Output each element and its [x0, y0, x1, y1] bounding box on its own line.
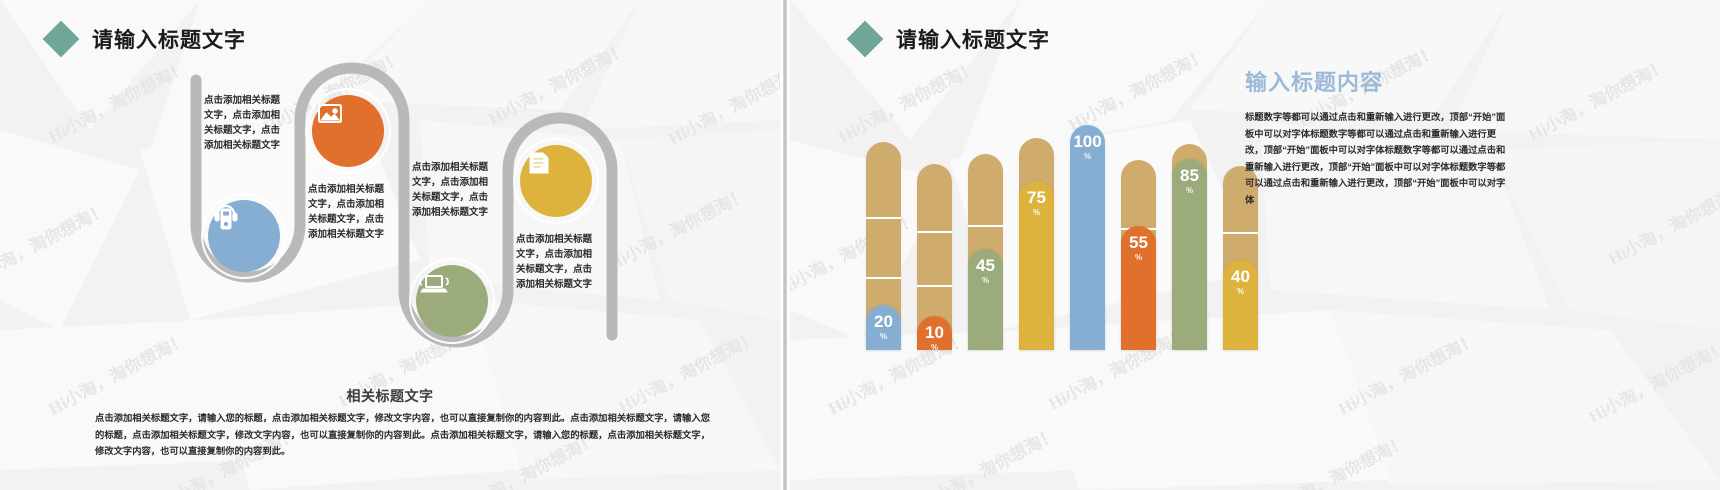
bar-value-label: 55: [1129, 233, 1148, 252]
bar-fill[interactable]: 40%: [1223, 260, 1258, 350]
slide-right: Hi小淘，淘你想淘！ Hi小淘，淘你想淘！ Hi小淘，淘你想淘！ Hi小淘，淘你…: [790, 0, 1720, 490]
diamond-marker-icon: [43, 21, 80, 58]
node-laptop[interactable]: [416, 265, 488, 337]
music-player-glyph: [208, 200, 244, 236]
bar-value-label: 75: [1027, 188, 1046, 207]
panel-body: 标题数字等都可以通过点击和重新输入进行更改，顶部“开始”面板中可以对字体标题数字…: [1245, 109, 1510, 208]
slide-left-header: 请输入标题文字: [48, 24, 246, 54]
bar-gridline: [968, 225, 1003, 227]
bar-chart: 20%10%45%75%100%55%85%40%: [866, 85, 1266, 350]
page-title: 请输入标题文字: [92, 24, 246, 54]
bar-fill[interactable]: 20%: [866, 305, 901, 350]
panel-title: 输入标题内容: [1245, 65, 1510, 97]
process-diagram: 点击添加相关标题文字，点击添加相关标题文字，点击添加相关标题文字 点击添加相关标…: [0, 60, 780, 370]
presentation-canvas: Hi小淘，淘你想淘！ Hi小淘，淘你想淘！ Hi小淘，淘你想淘！ Hi小淘，淘你…: [0, 0, 1720, 490]
node-3-text: 点击添加相关标题文字，点击添加相关标题文字，点击添加相关标题文字: [412, 160, 494, 220]
laptop-glyph: [416, 265, 452, 301]
bar-fill[interactable]: 45%: [968, 249, 1003, 350]
node-music-player[interactable]: [208, 200, 280, 272]
bar-value-label: 20: [874, 312, 893, 331]
node-document[interactable]: [520, 145, 592, 217]
right-text-panel: 输入标题内容 标题数字等都可以通过点击和重新输入进行更改，顶部“开始”面板中可以…: [1245, 65, 1510, 208]
node-image[interactable]: [312, 95, 384, 167]
slide-left: Hi小淘，淘你想淘！ Hi小淘，淘你想淘！ Hi小淘，淘你想淘！ Hi小淘，淘你…: [0, 0, 780, 490]
bar-unit-label: %: [880, 332, 887, 341]
bar-value-label: 45: [976, 256, 995, 275]
slide-right-header: 请输入标题文字: [852, 24, 1050, 54]
page-title: 请输入标题文字: [896, 24, 1050, 54]
node-1-text: 点击添加相关标题文字，点击添加相关标题文字，点击添加相关标题文字: [204, 93, 286, 153]
bar-fill[interactable]: 10%: [917, 316, 952, 350]
snake-path: [0, 60, 780, 370]
bar-gridline: [917, 285, 952, 287]
bar-fill[interactable]: 55%: [1121, 226, 1156, 350]
bar-fill[interactable]: 100%: [1070, 125, 1105, 350]
bar-value-label: 85: [1180, 166, 1199, 185]
bar-fill[interactable]: 85%: [1172, 159, 1207, 350]
bar-gridline: [866, 217, 901, 219]
bar-unit-label: %: [931, 343, 938, 352]
node-2-text: 点击添加相关标题文字，点击添加相关标题文字，点击添加相关标题文字: [308, 182, 390, 242]
bar-unit-label: %: [1084, 152, 1091, 161]
bar-unit-label: %: [1135, 253, 1142, 262]
bar-unit-label: %: [1186, 186, 1193, 195]
bar-unit-label: %: [982, 276, 989, 285]
slide-divider: [783, 0, 787, 490]
bar-gridline: [1223, 232, 1258, 234]
bar-value-label: 100: [1073, 132, 1101, 151]
document-glyph: [520, 145, 556, 181]
body-paragraph: 点击添加相关标题文字，请输入您的标题，点击添加相关标题文字，修改文字内容，也可以…: [95, 410, 710, 460]
bar-unit-label: %: [1033, 208, 1040, 217]
bar-gridline: [866, 277, 901, 279]
bar-value-label: 40: [1231, 267, 1250, 286]
bar-fill[interactable]: 75%: [1019, 181, 1054, 350]
bar-unit-label: %: [1237, 287, 1244, 296]
bar-gridline: [917, 231, 952, 233]
node-4-text: 点击添加相关标题文字，点击添加相关标题文字，点击添加相关标题文字: [516, 232, 598, 292]
section-subtitle: 相关标题文字: [0, 386, 780, 406]
bar-value-label: 10: [925, 323, 944, 342]
diamond-marker-icon: [847, 21, 884, 58]
image-glyph: [312, 95, 348, 131]
